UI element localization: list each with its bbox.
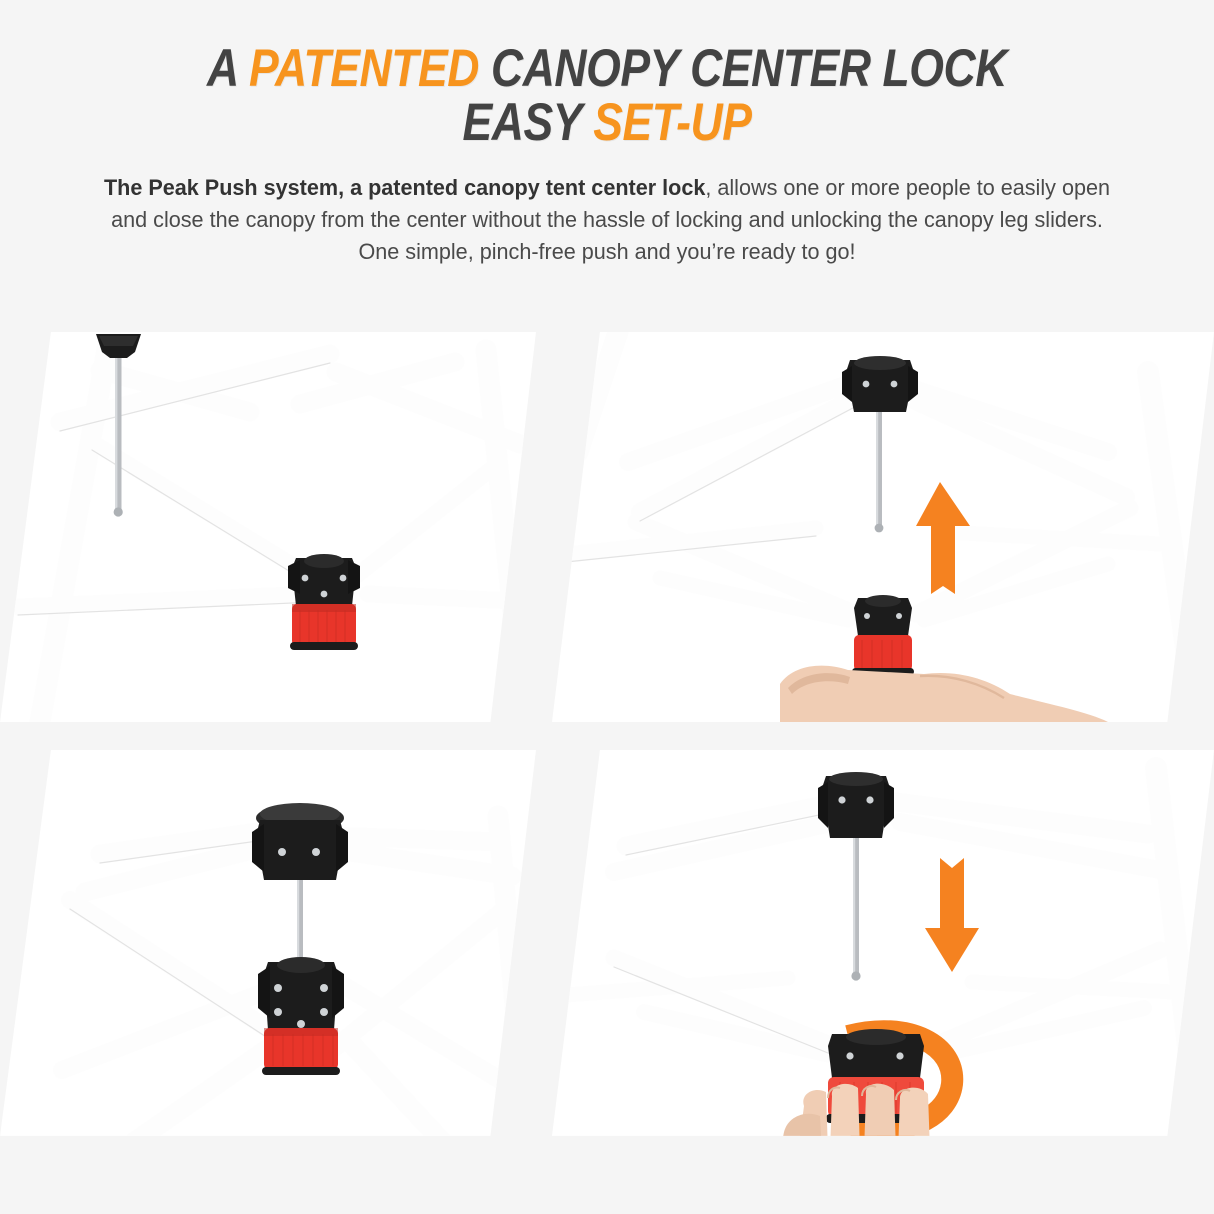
headline-line-1: A PATENTED CANOPY CENTER LOCK — [97, 42, 1117, 96]
center-lock-hub-icon — [852, 595, 914, 675]
panel-bottom-left-open-frame — [0, 750, 536, 1152]
description-paragraph: The Peak Push system, a patented canopy … — [24, 172, 1189, 268]
headline-line-2-prefix: EASY — [462, 93, 593, 152]
arrow-down-icon — [925, 858, 979, 972]
center-lock-hub-icon — [288, 554, 360, 650]
center-lock-hub-icon — [258, 957, 344, 1075]
peak-fitting-cap-icon — [252, 803, 348, 880]
red-collar — [854, 635, 912, 671]
canopy-frame-illustration-push-up — [548, 332, 1214, 722]
peak-fitting-icon — [842, 356, 918, 412]
canopy-frame-illustration-closed — [0, 332, 536, 722]
headline-line-1-prefix: A — [207, 39, 249, 98]
headline-line-1-suffix: CANOPY CENTER LOCK — [479, 39, 1007, 98]
panel-top-left-closed-frame — [0, 332, 536, 722]
product-photo-grid — [0, 332, 1214, 1152]
description-closing-line: One simple, pinch-free push and you’re r… — [99, 236, 1115, 268]
canopy-frame-illustration-open — [0, 750, 536, 1152]
steel-rod-icon — [851, 838, 860, 981]
description-lead-bold: The Peak Push system, a patented canopy … — [104, 175, 705, 200]
panel-top-right-push-up — [548, 332, 1214, 722]
hands-grip-twist-icon — [780, 1084, 930, 1152]
headline-keyword-setup: SET-UP — [593, 93, 751, 152]
steel-rod-icon — [297, 878, 303, 964]
peak-fitting-icon — [818, 772, 894, 838]
headline-line-2: EASY SET-UP — [97, 96, 1117, 150]
headline-keyword-patented: PATENTED — [249, 39, 479, 98]
hand-push-up-icon — [780, 666, 1108, 722]
panel-bottom-right-twist-down — [548, 750, 1214, 1152]
canopy-frame-illustration-twist-down — [548, 750, 1214, 1152]
headline-block: A PATENTED CANOPY CENTER LOCK EASY SET-U… — [0, 0, 1214, 150]
steel-rod-icon — [875, 410, 884, 532]
